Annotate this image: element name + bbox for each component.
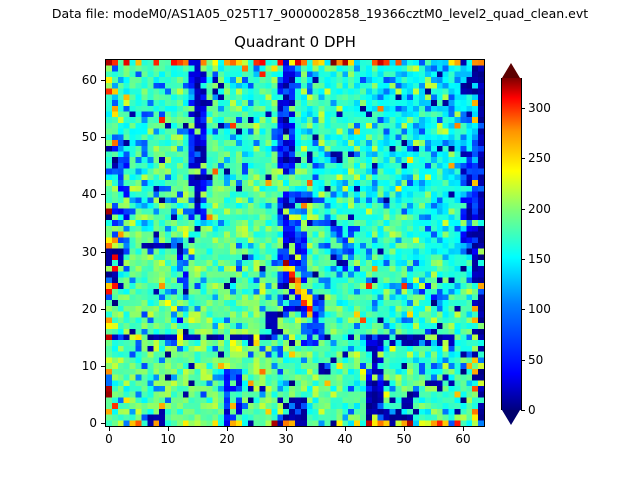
colorbar-tick-mark (521, 360, 525, 361)
colorbar-tick-label: 300 (528, 101, 551, 115)
colorbar-tick-mark (521, 209, 525, 210)
y-tick-label: 50 (57, 130, 97, 144)
x-tick-mark (404, 427, 405, 431)
colorbar-extend-max-arrow (502, 63, 520, 78)
detector-heatmap[interactable] (106, 60, 484, 426)
x-tick-label: 30 (266, 432, 306, 446)
data-file-label: Data file: modeM0/AS1A05_025T17_90000028… (0, 7, 640, 21)
colorbar-tick-label: 100 (528, 302, 551, 316)
heatmap-axes[interactable] (106, 60, 484, 426)
colorbar-tick-label: 200 (528, 202, 551, 216)
y-tick-label: 0 (57, 416, 97, 430)
x-tick-label: 20 (207, 432, 247, 446)
axis-spine-top (105, 59, 485, 60)
y-tick-label: 20 (57, 302, 97, 316)
colorbar-tick-label: 50 (528, 353, 543, 367)
colorbar-tick-mark (521, 259, 525, 260)
y-tick-mark (101, 194, 105, 195)
y-tick-label: 60 (57, 73, 97, 87)
figure-canvas: Data file: modeM0/AS1A05_025T17_90000028… (0, 0, 640, 480)
y-tick-mark (101, 366, 105, 367)
x-tick-label: 10 (148, 432, 188, 446)
colorbar-tick-mark (521, 108, 525, 109)
x-tick-label: 50 (384, 432, 424, 446)
colorbar-outline-left (501, 78, 502, 410)
x-tick-label: 40 (325, 432, 365, 446)
colorbar-tick-label: 0 (528, 403, 536, 417)
colorbar-gradient-body (502, 78, 521, 410)
axis-spine-left (105, 60, 106, 427)
page-title: Quadrant 0 DPH (106, 33, 484, 51)
x-tick-mark (227, 427, 228, 431)
axis-spine-right (484, 60, 485, 427)
x-tick-mark (286, 427, 287, 431)
y-tick-mark (101, 309, 105, 310)
y-tick-label: 30 (57, 245, 97, 259)
y-tick-label: 10 (57, 359, 97, 373)
colorbar-extend-min-arrow (502, 410, 520, 425)
x-tick-mark (345, 427, 346, 431)
x-tick-mark (168, 427, 169, 431)
x-tick-label: 60 (443, 432, 483, 446)
x-tick-mark (109, 427, 110, 431)
axis-spine-bottom (105, 426, 485, 427)
x-tick-mark (463, 427, 464, 431)
colorbar-tick-mark (521, 158, 525, 159)
colorbar-tick-label: 250 (528, 151, 551, 165)
colorbar-tick-mark (521, 410, 525, 411)
y-tick-mark (101, 80, 105, 81)
y-tick-mark (101, 252, 105, 253)
colorbar[interactable] (502, 63, 521, 425)
colorbar-tick-label: 150 (528, 252, 551, 266)
x-tick-label: 0 (89, 432, 129, 446)
colorbar-gradient (502, 78, 521, 410)
colorbar-tick-mark (521, 309, 525, 310)
y-tick-mark (101, 423, 105, 424)
y-tick-mark (101, 137, 105, 138)
y-tick-label: 40 (57, 187, 97, 201)
